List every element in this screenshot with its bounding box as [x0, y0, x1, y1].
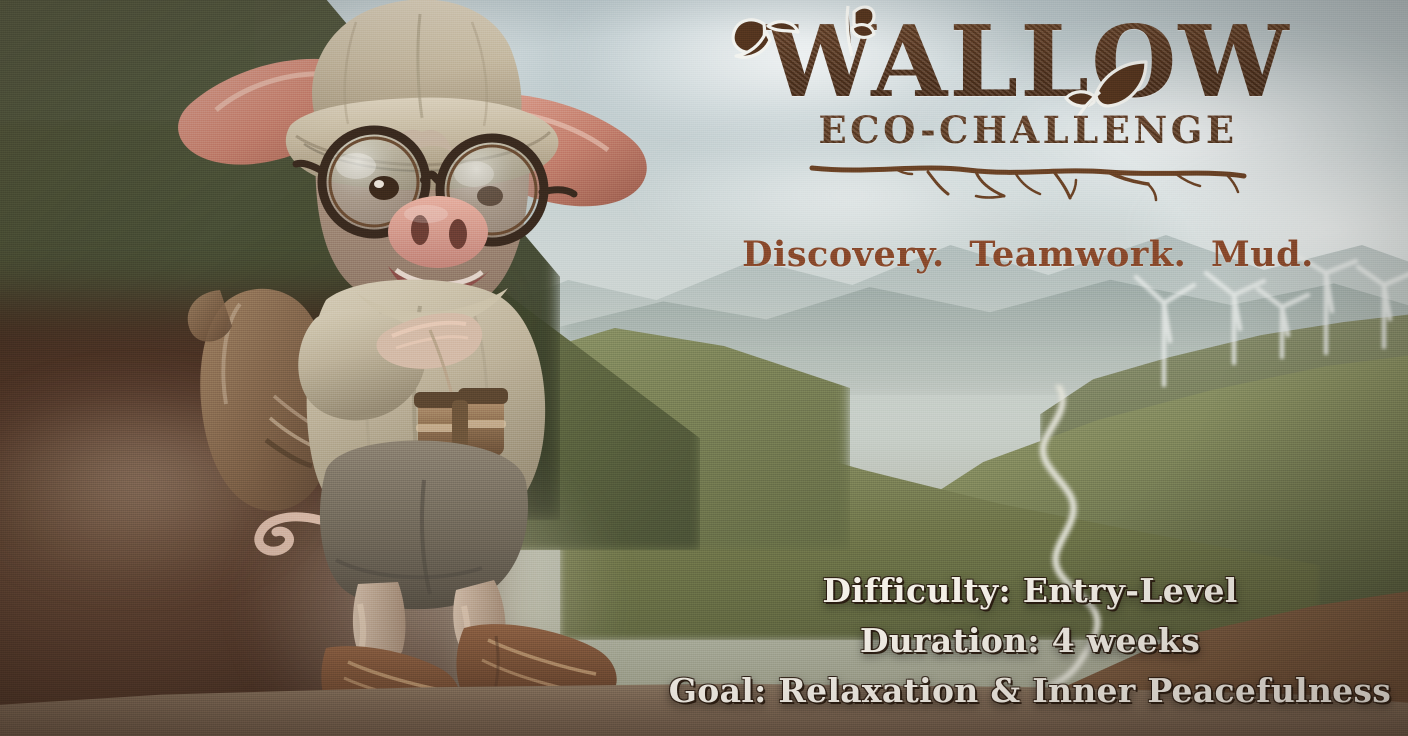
pig-snout	[388, 196, 488, 268]
wallow-logo: WALLOW ECO-CHALLENGE	[718, 16, 1338, 231]
pig-shorts	[320, 441, 528, 610]
challenge-info-block: Difficulty: Entry-Level Duration: 4 week…	[660, 566, 1400, 716]
logo-subtitle: ECO-CHALLENGE	[718, 108, 1338, 152]
info-duration: Duration: 4 weeks	[660, 616, 1400, 666]
twig-branch-divider-icon	[808, 154, 1248, 202]
tagline: Discovery. Teamwork. Mud.	[718, 234, 1338, 275]
tagline-word-1: Discovery.	[742, 234, 945, 275]
logo-title: WALLOW	[718, 16, 1338, 110]
info-difficulty: Difficulty: Entry-Level	[660, 566, 1400, 616]
tagline-word-2: Teamwork.	[969, 234, 1186, 275]
leaf-sprig-icon	[730, 12, 800, 72]
tagline-word-3: Mud.	[1211, 234, 1314, 275]
wind-turbine-icon	[1206, 273, 1264, 363]
wind-turbine-icon	[1358, 267, 1408, 347]
explorer-piglet-character	[120, 0, 720, 736]
pig-eye	[477, 186, 503, 206]
eco-challenge-poster: WALLOW ECO-CHALLENGE	[0, 0, 1408, 736]
pig-tail	[259, 517, 320, 551]
info-goal: Goal: Relaxation & Inner Peacefulness	[660, 666, 1400, 716]
pig-eye	[369, 176, 399, 200]
pig-head	[286, 0, 574, 325]
wind-turbine-group	[1130, 255, 1408, 455]
wind-turbine-icon	[1258, 289, 1308, 357]
wind-turbine-icon	[1136, 277, 1194, 385]
leaf-sprig-icon	[830, 4, 876, 60]
